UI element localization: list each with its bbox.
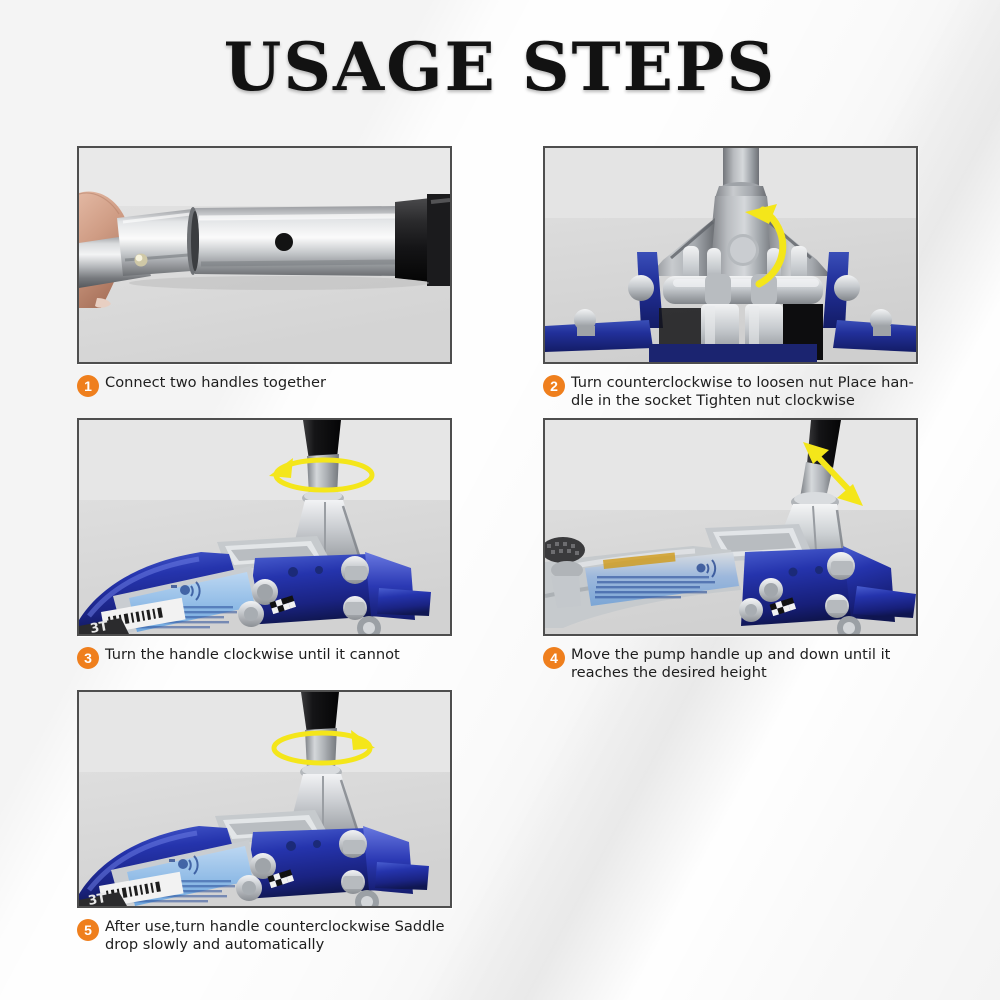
svg-text:3T: 3T [89,619,109,634]
jack-turn-clockwise-photo: 3T [77,418,452,636]
jack-pump-updown-photo [543,418,918,636]
step-badge-4: 4 [543,647,565,669]
jack-socket-front-photo [543,146,918,364]
step-card-1: 1 Connect two handles together [77,146,455,397]
step-badge-1: 1 [77,375,99,397]
step-badge-3: 3 [77,647,99,669]
step-caption-3: 3 Turn the handle clockwise until it can… [77,646,455,669]
step-card-5: 3T [77,690,455,954]
step-caption-text-4: Move the pump handle up and down until i… [571,646,890,682]
step-caption-text-2: Turn counterclockwise to loosen nut Plac… [571,374,914,410]
step-badge-5: 5 [77,919,99,941]
step-caption-5: 5 After use,turn handle counterclockwise… [77,918,455,954]
step-caption-4: 4 Move the pump handle up and down until… [543,646,933,682]
page-title: USAGE STEPS [0,28,1000,106]
step-caption-text-1: Connect two handles together [105,374,326,392]
step-card-3: 3T [77,418,455,669]
step-card-4: 4 Move the pump handle up and down until… [543,418,933,682]
handle-assembly-photo [77,146,452,364]
svg-text:3T: 3T [87,891,107,906]
jack-turn-counterclockwise-photo: 3T [77,690,452,908]
step-caption-text-5: After use,turn handle counterclockwise S… [105,918,444,954]
usage-steps-page: USAGE STEPS [0,0,1000,1000]
step-caption-1: 1 Connect two handles together [77,374,455,397]
step-badge-2: 2 [543,375,565,397]
step-caption-2: 2 Turn counterclockwise to loosen nut Pl… [543,374,933,410]
step-caption-text-3: Turn the handle clockwise until it canno… [105,646,400,664]
step-card-2: 2 Turn counterclockwise to loosen nut Pl… [543,146,933,410]
